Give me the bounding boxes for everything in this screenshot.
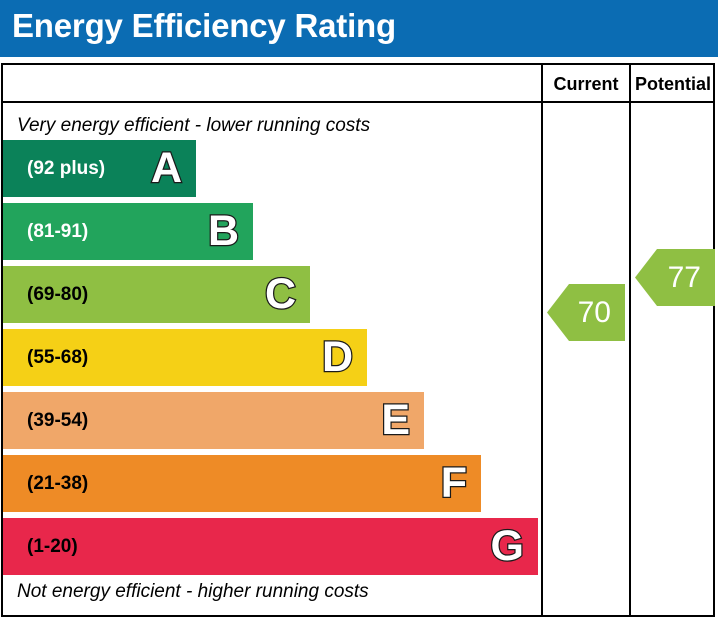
band-letter-f: F — [441, 455, 467, 512]
column-header-current: Current — [543, 65, 629, 103]
band-bar-f: (21-38)F — [3, 455, 481, 512]
band-letter-e: E — [381, 392, 410, 449]
band-range-b: (81-91) — [27, 203, 88, 260]
band-letter-d: D — [322, 329, 353, 386]
band-range-g: (1-20) — [27, 518, 78, 575]
page-title: Energy Efficiency Rating — [12, 7, 396, 45]
band-bar-d: (55-68)D — [3, 329, 367, 386]
band-range-a: (92 plus) — [27, 140, 105, 197]
band-bar-c: (69-80)C — [3, 266, 310, 323]
chart-header-banner: Energy Efficiency Rating — [0, 0, 718, 57]
band-range-f: (21-38) — [27, 455, 88, 512]
band-letter-g: G — [491, 518, 524, 575]
band-bars: (92 plus)A(81-91)B(69-80)C(55-68)D(39-54… — [3, 103, 541, 615]
band-range-d: (55-68) — [27, 329, 88, 386]
band-range-e: (39-54) — [27, 392, 88, 449]
body-divider-current — [541, 103, 543, 615]
band-letter-a: A — [151, 140, 182, 197]
band-letter-c: C — [265, 266, 296, 323]
current-rating-marker: 70 — [547, 284, 625, 341]
rating-table: Current Potential Very energy efficient … — [1, 63, 715, 617]
body-divider-potential — [629, 103, 631, 615]
band-bar-a: (92 plus)A — [3, 140, 196, 197]
band-letter-b: B — [208, 203, 239, 260]
table-body: Very energy efficient - lower running co… — [3, 103, 713, 615]
band-range-c: (69-80) — [27, 266, 88, 323]
column-header-potential: Potential — [631, 65, 715, 103]
band-bar-g: (1-20)G — [3, 518, 538, 575]
potential-rating-marker: 77 — [635, 249, 715, 306]
band-bar-b: (81-91)B — [3, 203, 253, 260]
caption-inefficient: Not energy efficient - higher running co… — [17, 581, 369, 603]
table-header-row: Current Potential — [3, 65, 713, 103]
energy-efficiency-rating-chart: Energy Efficiency Rating Current Potenti… — [0, 0, 718, 619]
band-bar-e: (39-54)E — [3, 392, 424, 449]
